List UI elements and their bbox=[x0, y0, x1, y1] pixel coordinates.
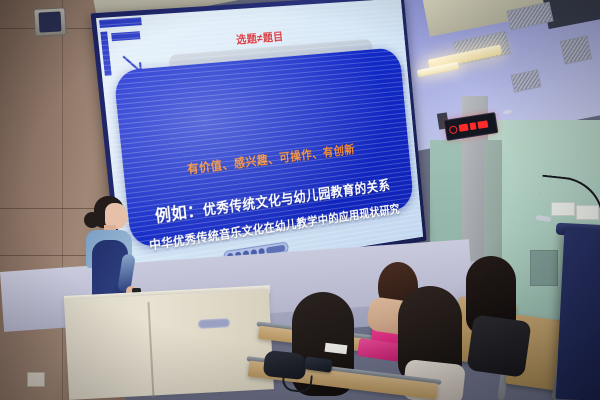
lecture-hall-photo: 有价值、感兴趣、可操作、有创新 例如：优秀传统文化与幼儿园教育的关系 中华优秀传… bbox=[0, 0, 600, 400]
presenter-hair-bun bbox=[84, 212, 100, 228]
podium bbox=[64, 289, 274, 400]
screen-glow bbox=[96, 0, 423, 285]
projected-slide: 有价值、感兴趣、可操作、有创新 例如：优秀传统文化与幼儿园教育的关系 中华优秀传… bbox=[96, 0, 423, 285]
projection-screen: 有价值、感兴趣、可操作、有创新 例如：优秀传统文化与幼儿园教育的关系 中华优秀传… bbox=[96, 0, 423, 285]
wall-outlet-icon bbox=[27, 372, 45, 387]
room: 有价值、感兴趣、可操作、有创新 例如：优秀传统文化与幼儿园教育的关系 中华优秀传… bbox=[0, 0, 600, 400]
podium-nameplate bbox=[198, 318, 230, 329]
wall-access-panel bbox=[530, 250, 558, 286]
rear-lectern bbox=[556, 229, 600, 400]
audience-body bbox=[466, 314, 531, 378]
wall-control-panel[interactable] bbox=[33, 7, 66, 37]
led-ring-icon bbox=[449, 125, 458, 134]
